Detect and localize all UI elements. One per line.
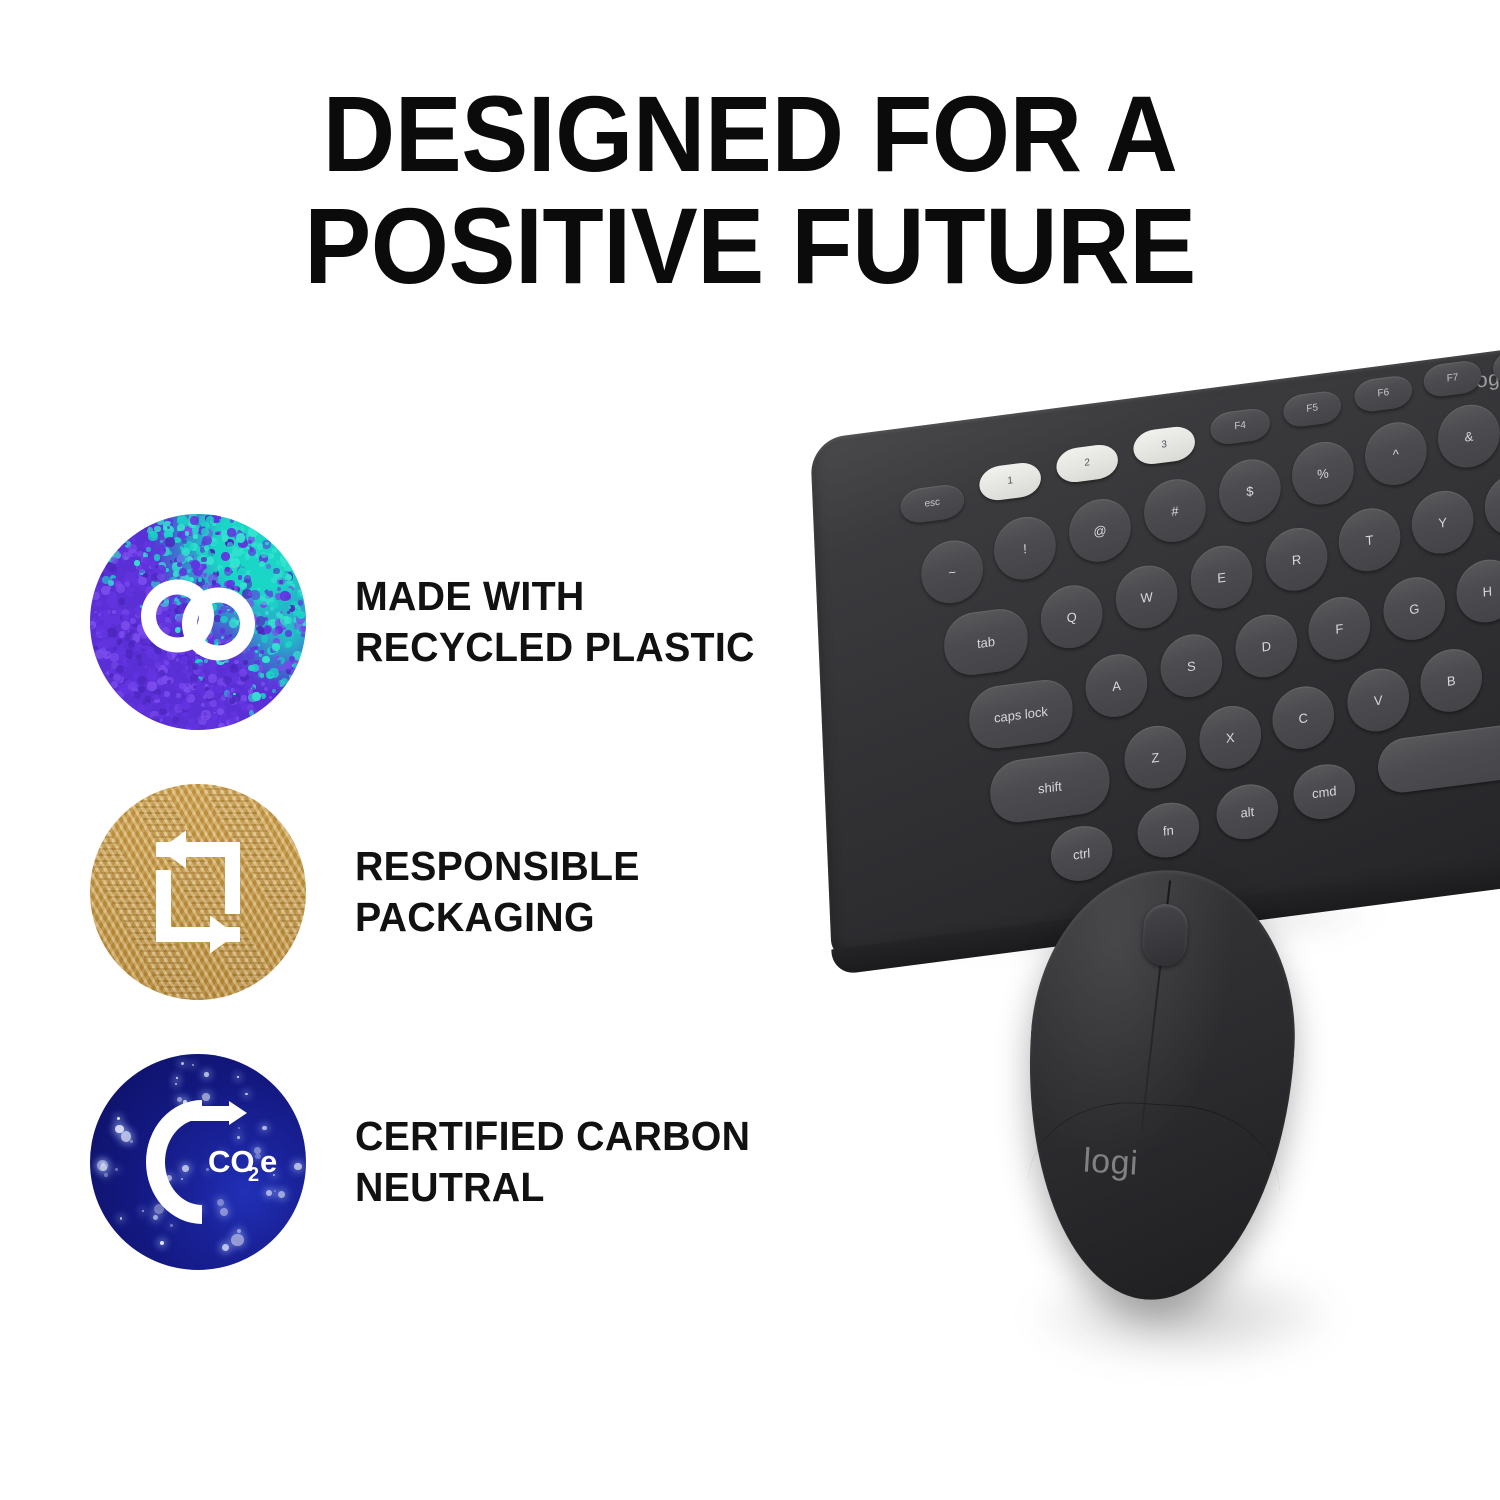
- recycled-plastic-badge: [90, 514, 306, 730]
- sustainability-feature-list: MADE WITH RECYCLED PLASTIC: [90, 513, 820, 1323]
- carbon-neutral-c-icon: CO 2 e: [90, 1054, 306, 1270]
- headline-line-1: DESIGNED FOR A: [53, 78, 1448, 190]
- list-item: CO 2 e CERTIFIED CARBON NEUTRAL: [90, 1053, 820, 1271]
- mouse-brand-logo: logi: [1082, 1141, 1139, 1183]
- carbon-neutral-badge: CO 2 e: [90, 1054, 306, 1270]
- page-title: DESIGNED FOR A POSITIVE FUTURE: [53, 78, 1448, 303]
- recycling-arrows-icon: [90, 514, 306, 730]
- co2e-subscript: 2: [248, 1164, 259, 1186]
- list-item: MADE WITH RECYCLED PLASTIC: [90, 513, 820, 731]
- list-item: RESPONSIBLE PACKAGING: [90, 783, 820, 1001]
- responsible-packaging-badge: [90, 784, 306, 1000]
- wireless-mouse[interactable]: logi: [1015, 862, 1305, 1307]
- product-photo: logi esc123F4F5F6F7F8F9~!@#$%^&*tabQWERT…: [760, 400, 1500, 1460]
- carbon-neutral-label: CERTIFIED CARBON NEUTRAL: [355, 1111, 750, 1213]
- package-loop-arrows-icon: [90, 784, 306, 1000]
- recycled-plastic-label: MADE WITH RECYCLED PLASTIC: [355, 571, 755, 673]
- responsible-packaging-label: RESPONSIBLE PACKAGING: [355, 841, 640, 943]
- wireless-keyboard[interactable]: logi esc123F4F5F6F7F8F9~!@#$%^&*tabQWERT…: [810, 334, 1500, 961]
- product-feature-banner: DESIGNED FOR A POSITIVE FUTURE: [0, 0, 1500, 1500]
- headline-line-2: POSITIVE FUTURE: [53, 190, 1448, 302]
- mouse-scroll-wheel[interactable]: [1141, 903, 1189, 968]
- co2e-tail: e: [260, 1144, 277, 1179]
